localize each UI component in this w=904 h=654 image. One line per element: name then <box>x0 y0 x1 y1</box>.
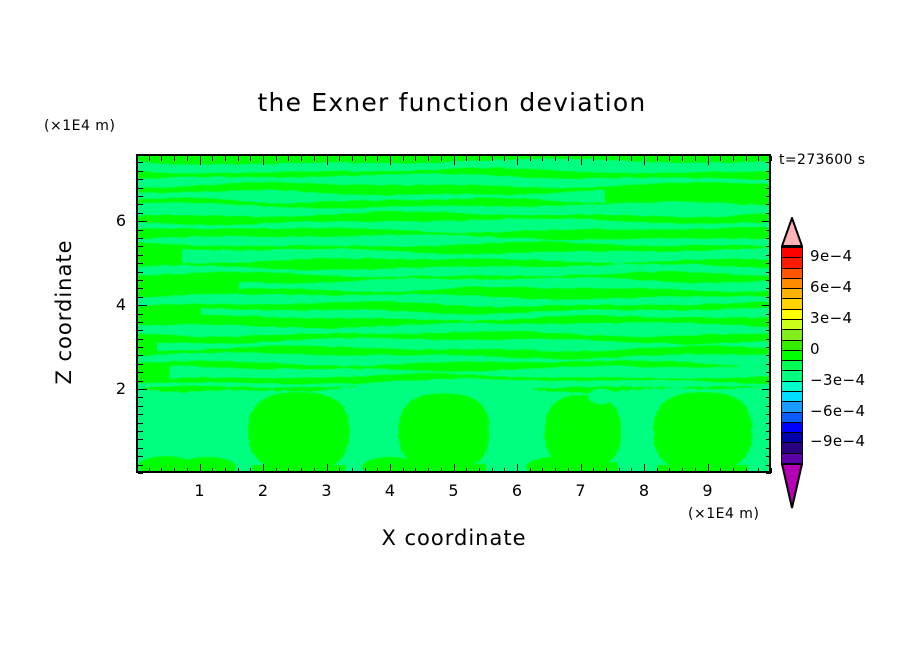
x-tick-label: 4 <box>370 481 410 500</box>
x-minor-tick <box>276 468 277 473</box>
x-minor-tick <box>250 468 251 473</box>
x-minor-tick <box>415 468 416 473</box>
x-major-tick <box>517 464 518 473</box>
x-tick-label: 7 <box>561 481 601 500</box>
x-minor-tick <box>771 468 772 473</box>
y-major-tick <box>138 389 147 390</box>
x-minor-tick-top <box>758 156 759 161</box>
x-minor-tick-top <box>504 156 505 161</box>
x-minor-tick-top <box>720 156 721 161</box>
y-minor-tick-right <box>766 339 771 340</box>
y-minor-tick-right <box>766 272 771 273</box>
x-minor-tick <box>758 468 759 473</box>
y-minor-tick-right <box>766 297 771 298</box>
x-major-tick <box>454 464 455 473</box>
y-minor-tick-right <box>766 314 771 315</box>
colorbar: 9e−46e−43e−40−3e−4−6e−4−9e−4 <box>781 247 803 463</box>
y-major-tick <box>138 305 147 306</box>
x-minor-tick-top <box>669 156 670 161</box>
y-minor-tick-right <box>766 406 771 407</box>
x-tick-label: 3 <box>307 481 347 500</box>
x-major-tick-top <box>454 156 455 165</box>
y-minor-tick <box>138 439 143 440</box>
x-minor-tick-top <box>174 156 175 161</box>
x-minor-tick <box>187 468 188 473</box>
y-minor-tick <box>138 339 143 340</box>
y-minor-tick-right <box>766 355 771 356</box>
y-minor-tick <box>138 397 143 398</box>
x-minor-tick-top <box>250 156 251 161</box>
y-minor-tick-right <box>766 364 771 365</box>
x-major-tick <box>200 464 201 473</box>
x-minor-tick-top <box>225 156 226 161</box>
x-minor-tick <box>720 468 721 473</box>
y-minor-tick <box>138 381 143 382</box>
time-stamp-label: t=273600 s <box>779 152 865 168</box>
x-minor-tick <box>161 468 162 473</box>
y-minor-tick <box>138 179 143 180</box>
x-minor-tick <box>352 468 353 473</box>
x-minor-tick <box>733 468 734 473</box>
colorbar-tick-label: 6e−4 <box>810 278 852 296</box>
x-minor-tick-top <box>530 156 531 161</box>
y-minor-tick-right <box>766 263 771 264</box>
y-minor-tick-right <box>766 162 771 163</box>
y-minor-tick-right <box>766 238 771 239</box>
y-tick-label: 2 <box>96 379 126 398</box>
y-minor-tick-right <box>766 255 771 256</box>
y-minor-tick <box>138 255 143 256</box>
x-minor-tick <box>288 468 289 473</box>
y-minor-tick-right <box>766 372 771 373</box>
x-minor-tick-top <box>352 156 353 161</box>
colorbar-over-cap <box>781 217 803 247</box>
x-minor-tick-top <box>365 156 366 161</box>
x-minor-tick-top <box>415 156 416 161</box>
x-minor-tick-top <box>619 156 620 161</box>
x-minor-tick <box>682 468 683 473</box>
x-tick-label: 5 <box>434 481 474 500</box>
y-minor-tick <box>138 230 143 231</box>
y-minor-tick-right <box>766 414 771 415</box>
x-minor-tick <box>403 468 404 473</box>
contour-field <box>138 156 769 471</box>
x-minor-tick <box>746 468 747 473</box>
x-tick-label: 2 <box>243 481 283 500</box>
y-minor-tick <box>138 263 143 264</box>
y-minor-tick-right <box>766 397 771 398</box>
x-tick-label: 6 <box>497 481 537 500</box>
x-minor-tick <box>365 468 366 473</box>
x-minor-tick <box>428 468 429 473</box>
y-minor-tick <box>138 465 143 466</box>
x-minor-tick-top <box>187 156 188 161</box>
x-minor-tick-top <box>733 156 734 161</box>
y-minor-tick <box>138 322 143 323</box>
x-minor-tick-top <box>657 156 658 161</box>
x-minor-tick-top <box>314 156 315 161</box>
x-minor-tick-top <box>288 156 289 161</box>
x-major-tick-top <box>327 156 328 165</box>
x-minor-tick-top <box>149 156 150 161</box>
x-minor-tick-top <box>606 156 607 161</box>
y-minor-tick <box>138 246 143 247</box>
colorbar-tick-label: 9e−4 <box>810 247 852 265</box>
x-minor-tick <box>492 468 493 473</box>
y-minor-tick-right <box>766 179 771 180</box>
y-minor-tick <box>138 406 143 407</box>
x-minor-tick-top <box>771 156 772 161</box>
y-minor-tick <box>138 364 143 365</box>
figure-canvas: the Exner function deviation (×1E4 m) (×… <box>0 0 904 654</box>
colorbar-under-cap <box>781 463 803 509</box>
y-minor-tick <box>138 314 143 315</box>
y-minor-tick <box>138 188 143 189</box>
colorbar-tick-label: 3e−4 <box>810 309 852 327</box>
x-minor-tick <box>466 468 467 473</box>
y-minor-tick-right <box>766 473 771 474</box>
x-minor-tick <box>695 468 696 473</box>
y-minor-tick-right <box>766 196 771 197</box>
y-minor-tick-right <box>766 448 771 449</box>
colorbar-tick-label: −9e−4 <box>810 432 865 450</box>
x-major-tick-top <box>200 156 201 165</box>
y-major-tick-right <box>762 389 771 390</box>
y-minor-tick <box>138 456 143 457</box>
x-minor-tick-top <box>479 156 480 161</box>
x-minor-tick-top <box>492 156 493 161</box>
y-minor-tick-right <box>766 330 771 331</box>
x-minor-tick <box>136 468 137 473</box>
x-minor-tick-top <box>339 156 340 161</box>
y-minor-tick <box>138 355 143 356</box>
y-minor-tick <box>138 423 143 424</box>
x-tick-label: 9 <box>688 481 728 500</box>
x-minor-tick-top <box>631 156 632 161</box>
y-minor-tick-right <box>766 465 771 466</box>
y-minor-tick <box>138 372 143 373</box>
x-minor-tick <box>504 468 505 473</box>
x-major-tick-top <box>581 156 582 165</box>
y-minor-tick <box>138 280 143 281</box>
y-minor-tick-right <box>766 423 771 424</box>
x-minor-tick-top <box>276 156 277 161</box>
y-minor-tick <box>138 196 143 197</box>
x-major-tick-top <box>708 156 709 165</box>
x-minor-tick-top <box>682 156 683 161</box>
x-minor-tick <box>555 468 556 473</box>
x-minor-tick-top <box>212 156 213 161</box>
x-minor-tick <box>238 468 239 473</box>
y-axis-unit-label: (×1E4 m) <box>44 118 115 134</box>
y-minor-tick-right <box>766 171 771 172</box>
plot-area <box>136 154 771 473</box>
y-minor-tick <box>138 347 143 348</box>
x-minor-tick <box>619 468 620 473</box>
y-minor-tick-right <box>766 431 771 432</box>
y-minor-tick <box>138 288 143 289</box>
x-minor-tick-top <box>555 156 556 161</box>
y-minor-tick-right <box>766 456 771 457</box>
x-minor-tick-top <box>746 156 747 161</box>
x-minor-tick <box>606 468 607 473</box>
y-minor-tick-right <box>766 439 771 440</box>
x-minor-tick-top <box>377 156 378 161</box>
y-minor-tick <box>138 473 143 474</box>
y-minor-tick <box>138 162 143 163</box>
x-minor-tick <box>301 468 302 473</box>
x-minor-tick-top <box>301 156 302 161</box>
x-major-tick-top <box>644 156 645 165</box>
x-major-tick <box>708 464 709 473</box>
y-minor-tick <box>138 171 143 172</box>
x-minor-tick <box>631 468 632 473</box>
colorbar-tick-label: −3e−4 <box>810 371 865 389</box>
colorbar-tick-label: −6e−4 <box>810 402 865 420</box>
x-minor-tick-top <box>238 156 239 161</box>
x-minor-tick-top <box>593 156 594 161</box>
x-minor-tick-top <box>403 156 404 161</box>
x-major-tick-top <box>517 156 518 165</box>
x-major-tick <box>263 464 264 473</box>
x-major-tick <box>390 464 391 473</box>
x-minor-tick <box>339 468 340 473</box>
x-minor-tick-top <box>161 156 162 161</box>
y-major-tick-right <box>762 305 771 306</box>
x-minor-tick-top <box>441 156 442 161</box>
x-major-tick-top <box>390 156 391 165</box>
y-minor-tick-right <box>766 204 771 205</box>
x-minor-tick <box>593 468 594 473</box>
y-minor-tick-right <box>766 213 771 214</box>
y-minor-tick-right <box>766 347 771 348</box>
y-minor-tick <box>138 272 143 273</box>
y-minor-tick <box>138 204 143 205</box>
x-major-tick-top <box>263 156 264 165</box>
x-major-tick <box>327 464 328 473</box>
x-minor-tick <box>542 468 543 473</box>
y-minor-tick <box>138 414 143 415</box>
x-minor-tick <box>212 468 213 473</box>
x-minor-tick <box>568 468 569 473</box>
x-minor-tick <box>669 468 670 473</box>
y-minor-tick-right <box>766 246 771 247</box>
y-minor-tick-right <box>766 322 771 323</box>
x-major-tick <box>644 464 645 473</box>
y-major-tick-right <box>762 221 771 222</box>
y-minor-tick-right <box>766 230 771 231</box>
y-minor-tick <box>138 330 143 331</box>
x-minor-tick <box>314 468 315 473</box>
y-major-tick <box>138 221 147 222</box>
y-minor-tick-right <box>766 280 771 281</box>
y-minor-tick <box>138 238 143 239</box>
y-minor-tick <box>138 213 143 214</box>
y-minor-tick-right <box>766 288 771 289</box>
y-minor-tick-right <box>766 381 771 382</box>
x-minor-tick-top <box>695 156 696 161</box>
x-minor-tick <box>225 468 226 473</box>
y-tick-label: 4 <box>96 295 126 314</box>
x-minor-tick-top <box>568 156 569 161</box>
y-minor-tick <box>138 431 143 432</box>
x-minor-tick <box>174 468 175 473</box>
y-minor-tick <box>138 448 143 449</box>
y-tick-label: 6 <box>96 211 126 230</box>
x-tick-label: 1 <box>180 481 220 500</box>
y-axis-title: Z coordinate <box>52 212 76 412</box>
page-title: the Exner function deviation <box>0 88 904 117</box>
y-minor-tick-right <box>766 188 771 189</box>
x-minor-tick <box>530 468 531 473</box>
colorbar-tick-label: 0 <box>810 340 820 358</box>
x-minor-tick <box>441 468 442 473</box>
y-minor-tick <box>138 297 143 298</box>
x-tick-label: 8 <box>624 481 664 500</box>
x-minor-tick <box>479 468 480 473</box>
x-major-tick <box>581 464 582 473</box>
x-minor-tick <box>377 468 378 473</box>
x-minor-tick <box>657 468 658 473</box>
x-minor-tick-top <box>542 156 543 161</box>
x-axis-unit-label: (×1E4 m) <box>688 506 759 522</box>
x-minor-tick-top <box>136 156 137 161</box>
x-minor-tick-top <box>466 156 467 161</box>
x-minor-tick <box>149 468 150 473</box>
x-minor-tick-top <box>428 156 429 161</box>
x-axis-title: X coordinate <box>136 526 772 550</box>
